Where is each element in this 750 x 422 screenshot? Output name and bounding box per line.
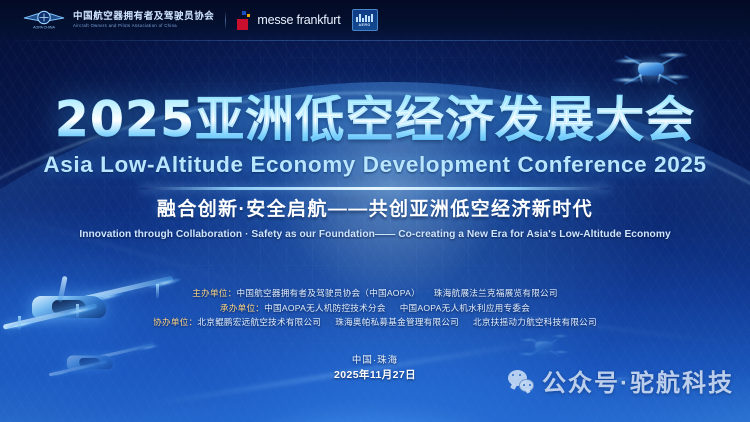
venue-date: 2025年11月27日	[0, 368, 750, 383]
organizer-row-coorganizer: 协办单位：北京鲲鹏宏远航空技术有限公司珠海奥帕私募基金管理有限公司北京扶摇动力航…	[0, 315, 750, 330]
organizer-block: 主办单位：中国航空器拥有者及驾驶员协会（中国AOPA）珠海航展法兰克福展览有限公…	[0, 286, 750, 330]
organizer-label-coorganizer: 协办单位：	[153, 317, 197, 327]
venue-block: 中国·珠海 2025年11月27日	[0, 354, 750, 383]
conference-poster: AOPA CHINA 中国航空器拥有者及驾驶员协会 Aircraft Owner…	[0, 0, 750, 422]
organizer-entity: 北京扶摇动力航空科技有限公司	[473, 317, 597, 327]
page-title: 2025亚洲低空经济发展大会	[0, 95, 750, 144]
page-subtitle-en: Asia Low-Altitude Economy Development Co…	[0, 152, 750, 178]
organizer-entity: 珠海奥帕私募基金管理有限公司	[335, 317, 459, 327]
organizer-entity: 中国AOPA无人机防控技术分会	[264, 303, 386, 313]
title-divider	[140, 187, 610, 190]
organizer-row-host: 主办单位：中国航空器拥有者及驾驶员协会（中国AOPA）珠海航展法兰克福展览有限公…	[0, 286, 750, 301]
organizer-entity: 珠海航展法兰克福展览有限公司	[434, 288, 558, 298]
organizer-entity: 中国AOPA无人机水利应用专委会	[400, 303, 530, 313]
organizer-entity: 中国航空器拥有者及驾驶员协会（中国AOPA）	[236, 288, 419, 298]
organizer-label-host: 主办单位：	[192, 288, 236, 298]
slogan-cn: 融合创新·安全启航——共创亚洲低空经济新时代	[0, 194, 750, 221]
slogan-en: Innovation through Collaboration · Safet…	[0, 229, 750, 240]
organizer-row-undertaker: 承办单位：中国AOPA无人机防控技术分会中国AOPA无人机水利应用专委会	[0, 301, 750, 316]
poster-content: 2025亚洲低空经济发展大会 Asia Low-Altitude Economy…	[0, 0, 750, 422]
venue-city: 中国·珠海	[0, 354, 750, 368]
organizer-label-undertaker: 承办单位：	[220, 303, 264, 313]
organizer-entity: 北京鲲鹏宏远航空技术有限公司	[197, 317, 321, 327]
